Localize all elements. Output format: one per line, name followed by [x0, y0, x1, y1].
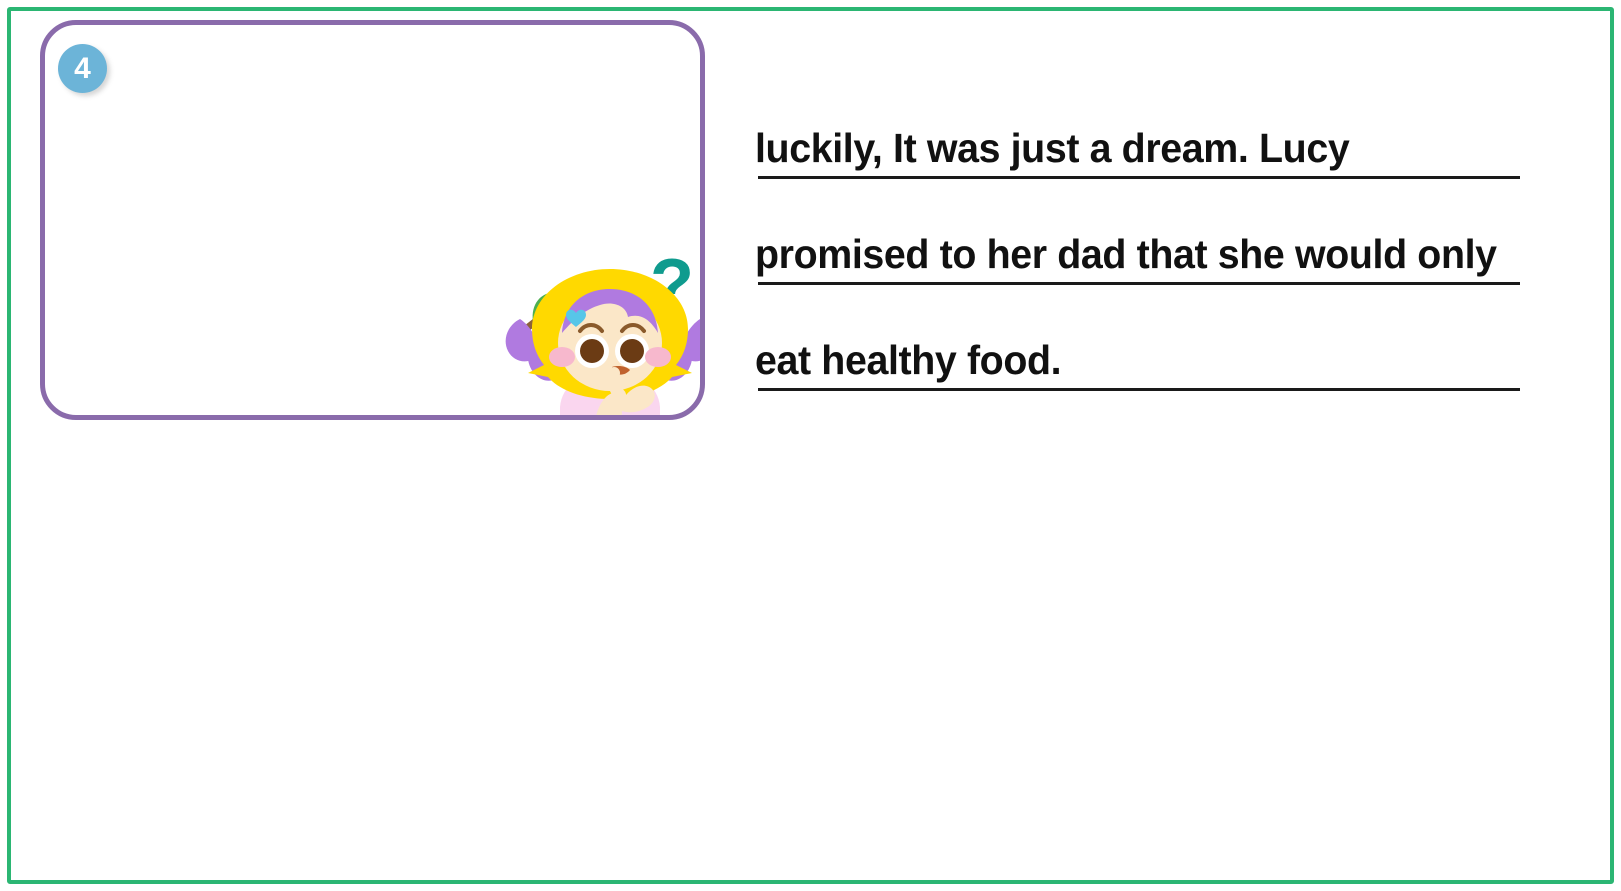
answer-line-rule	[758, 282, 1520, 285]
answer-line-text: luckily, It was just a dream. Lucy	[755, 125, 1349, 172]
answer-line[interactable]: promised to her dad that she would only	[755, 184, 1520, 290]
drawing-prompt-card[interactable]: ?	[40, 20, 705, 420]
answer-line-text: eat healthy food.	[755, 337, 1061, 384]
left-blush	[549, 347, 575, 367]
answer-line[interactable]: luckily, It was just a dream. Lucy	[755, 78, 1520, 184]
worksheet-page: ?	[0, 0, 1621, 891]
answer-line-rule	[758, 176, 1520, 179]
answer-writing-lines[interactable]: luckily, It was just a dream. Lucy promi…	[755, 78, 1520, 396]
right-blush	[645, 347, 671, 367]
answer-line-rule	[758, 388, 1520, 391]
answer-line-text: promised to her dad that she would only	[755, 231, 1497, 278]
exercise-number-badge: 4	[58, 44, 107, 93]
answer-line[interactable]: eat healthy food.	[755, 290, 1520, 396]
character-illustration: ?	[500, 247, 705, 420]
